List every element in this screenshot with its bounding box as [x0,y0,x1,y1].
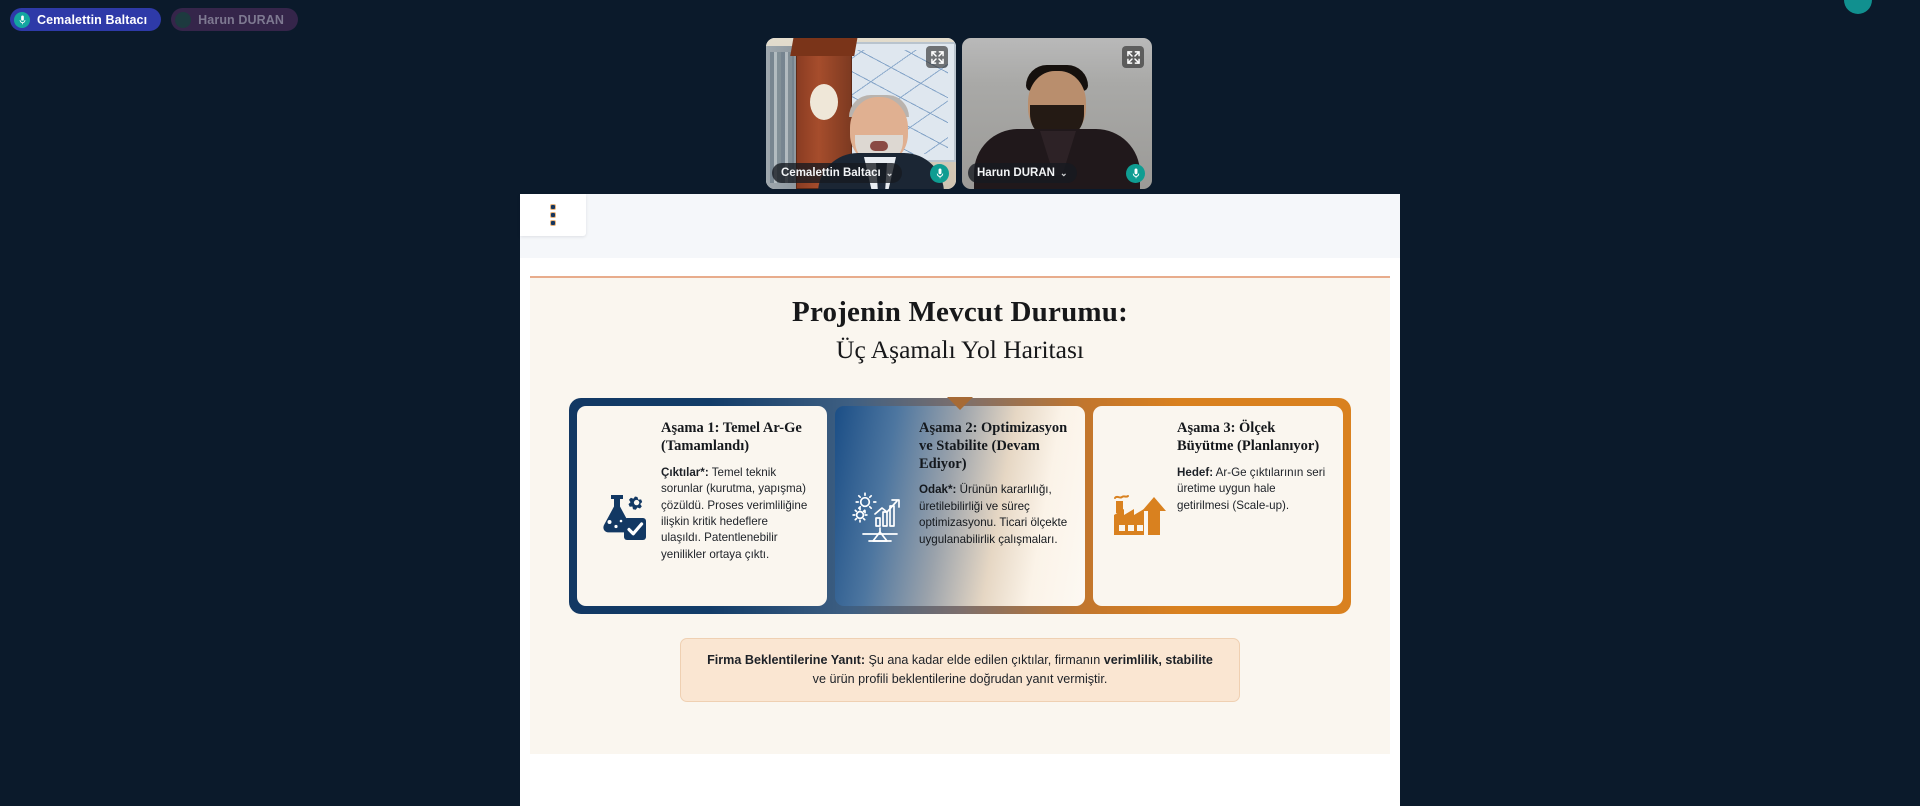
video-tile-name: Harun DURAN [977,167,1055,179]
microphone-icon[interactable] [1126,164,1145,183]
phase-body: Çıktılar*: Temel teknik sorunlar (kurutm… [661,465,811,564]
phase-label: Odak*: [919,483,956,496]
callout-lead: Firma Beklentilerine Yanıt: [707,653,865,667]
phase-body: Odak*: Ürünün kararlılığı, üretilebilirl… [919,482,1069,548]
factory-arrow-up-icon [1107,473,1169,543]
participant-pill-bar: Cemalettin Baltacı Harun DURAN [10,8,298,31]
video-tile-name: Cemalettin Baltacı [781,167,881,179]
video-tile-strip: Cemalettin Baltacı ⌄ [766,38,1152,189]
slide-title: Projenin Mevcut Durumu: Üç Aşamalı Yol H… [530,294,1390,366]
roadmap-frame: Aşama 1: Temel Ar-Ge (Tamamlandı) Çıktıl… [569,398,1351,614]
phase-card-2: Aşama 2: Optimizasyon ve Stabilite (Deva… [835,406,1085,606]
phase-label: Hedef: [1177,466,1213,479]
document-toolbar [520,194,1400,258]
phase-heading: Aşama 1: Temel Ar-Ge (Tamamlandı) [661,420,811,455]
video-tile-harun[interactable]: Harun DURAN ⌄ [962,38,1152,189]
phase-text: Temel teknik sorunlar (kurutma, yapışma)… [661,466,807,561]
phase-heading: Aşama 3: Ölçek Büyütme (Planlanıyor) [1177,420,1327,455]
video-tile-cemalettin[interactable]: Cemalettin Baltacı ⌄ [766,38,956,189]
phase-label: Çıktılar*: [661,466,709,479]
callout-text-1: Şu ana kadar elde edilen çıktılar, firma… [865,653,1104,667]
slide-title-line-1: Projenin Mevcut Durumu: [530,294,1390,331]
phase-card-1: Aşama 1: Temel Ar-Ge (Tamamlandı) Çıktıl… [577,406,827,606]
shared-document-panel: Projenin Mevcut Durumu: Üç Aşamalı Yol H… [520,194,1400,806]
expand-icon[interactable] [926,46,948,68]
microphone-icon [14,12,30,28]
document-footer-white [520,754,1400,806]
document-spacer [520,258,1400,276]
corner-avatar[interactable] [1844,0,1872,14]
slide-title-line-2: Üç Aşamalı Yol Haritası [530,333,1390,366]
callout-text-2: ve ürün profili beklentilerine doğrudan … [813,672,1108,686]
chevron-down-icon: ⌄ [886,168,894,179]
phase-heading: Aşama 2: Optimizasyon ve Stabilite (Deva… [919,420,1069,473]
summary-callout: Firma Beklentilerine Yanıt: Şu ana kadar… [680,638,1240,702]
microphone-icon[interactable] [930,164,949,183]
callout-strong-2: stabilite [1165,653,1213,667]
callout-strong-1: verimlilik, [1104,653,1162,667]
current-phase-pointer-icon [947,397,973,410]
presentation-slide: Projenin Mevcut Durumu: Üç Aşamalı Yol H… [530,276,1390,754]
gears-balance-chart-icon [849,472,911,544]
phase-card-3: Aşama 3: Ölçek Büyütme (Planlanıyor) Hed… [1093,406,1343,606]
video-tile-name-chip[interactable]: Cemalettin Baltacı ⌄ [772,163,902,183]
expand-icon[interactable] [1122,46,1144,68]
chevron-down-icon: ⌄ [1060,168,1068,179]
participant-pill-label: Harun DURAN [198,13,284,27]
kebab-menu-icon[interactable] [520,194,586,236]
phase-body: Hedef: Ar-Ge çıktılarının seri üretime u… [1177,465,1327,514]
video-tile-name-chip[interactable]: Harun DURAN ⌄ [968,163,1077,183]
avatar-dot-icon [175,12,191,28]
participant-pill-cemalettin[interactable]: Cemalettin Baltacı [10,8,161,31]
flask-gear-check-icon [591,472,653,544]
participant-pill-label: Cemalettin Baltacı [37,13,147,27]
participant-pill-harun[interactable]: Harun DURAN [171,8,298,31]
meeting-app-window: Cemalettin Baltacı Harun DURAN [0,0,1920,806]
